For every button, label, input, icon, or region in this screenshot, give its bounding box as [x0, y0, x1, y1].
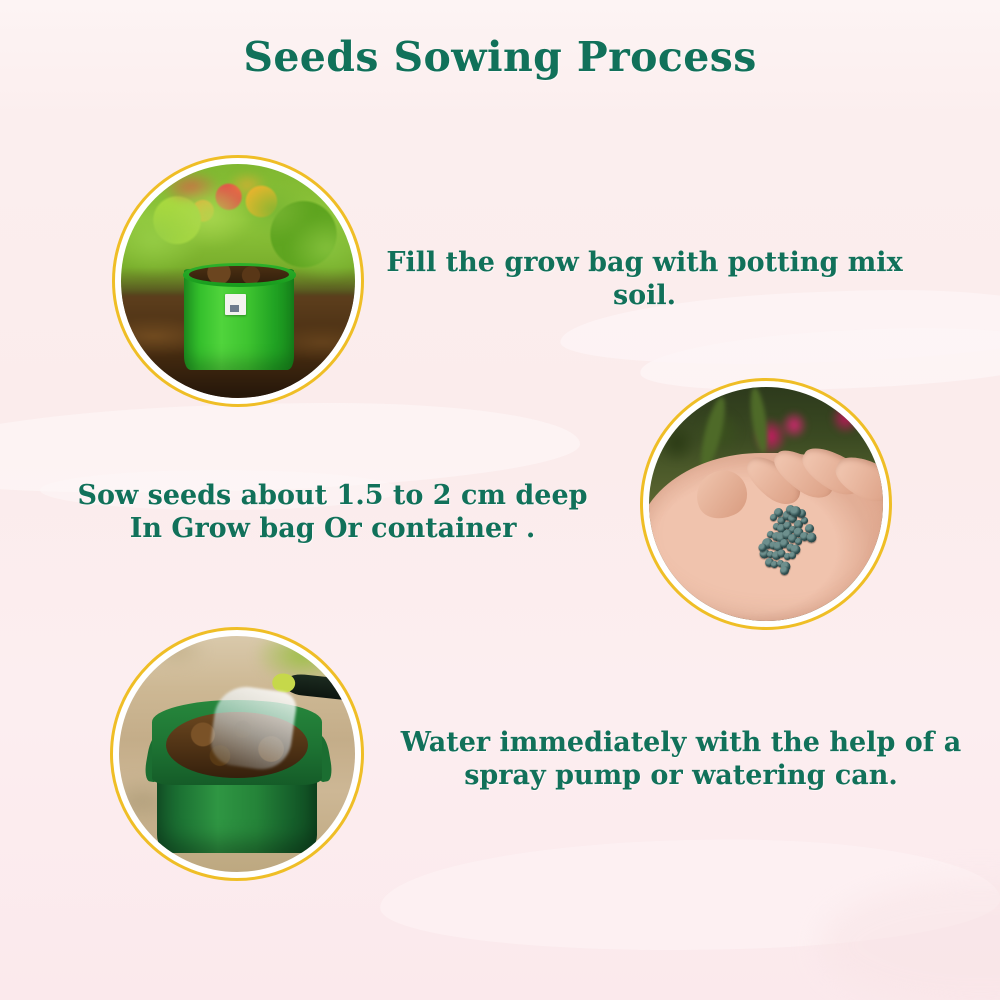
grow-bag-label: [225, 294, 246, 315]
step-1-caption: Fill the grow bag with potting mix soil.: [372, 247, 917, 313]
palm-with-seeds-scene: [649, 387, 883, 621]
seed-pellet: [806, 532, 816, 542]
seed-pile: [745, 504, 815, 570]
seed-pellet: [789, 552, 796, 559]
watering-grow-bag-photo: [110, 627, 364, 881]
seed-pellet: [780, 566, 789, 575]
seed-pellet: [758, 544, 766, 552]
watering-scene: [119, 636, 355, 872]
photo-clip: [121, 164, 355, 398]
infographic-poster: Seeds Sowing Process Fill the grow bag w…: [0, 0, 1000, 1000]
photo-clip: [119, 636, 355, 872]
photo-clip: [649, 387, 883, 621]
garden-scene: [121, 164, 355, 398]
poster-title: Seeds Sowing Process: [0, 33, 1000, 81]
background-wave-shape: [820, 880, 1000, 1000]
grow-bag-with-soil-photo: [112, 155, 364, 407]
seed-pellet: [790, 506, 801, 517]
seeds-in-palm-photo: [640, 378, 892, 630]
background-wave-shape: [379, 835, 1000, 956]
seed-pellet: [770, 514, 777, 521]
step-3-caption: Water immediately with the help of a spr…: [396, 727, 966, 793]
step-2-caption: Sow seeds about 1.5 to 2 cm deep In Grow…: [60, 480, 605, 546]
